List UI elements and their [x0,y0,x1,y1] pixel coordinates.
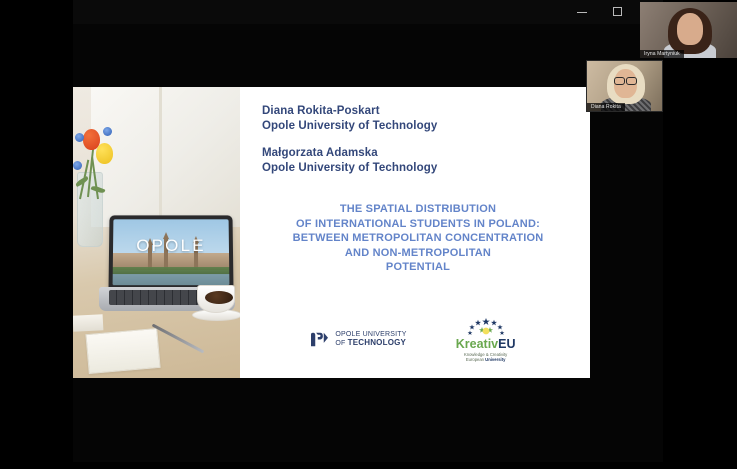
meeting-screen: OPOLE Diana Rokita-Poskart Op [0,0,737,469]
opole-mark-icon [309,331,330,348]
cornflower [103,127,112,136]
participant-tile-2[interactable]: Diana Rokita [586,60,663,112]
author-org: Opole University of Technology [262,119,574,134]
window-light [91,87,240,227]
author-name: Diana Rokita-Poskart [262,104,574,119]
participant-tile-1[interactable]: Iryna Martyniuk [640,2,737,58]
participant-name-2: Diana Rokita [587,103,625,111]
participant-name-1: Iryna Martyniuk [640,50,684,58]
author-org: Opole University of Technology [262,161,574,176]
tagline-line2: European University [451,357,521,362]
slide-text-panel: Diana Rokita-Poskart Opole University of… [240,87,590,378]
maximize-icon[interactable] [611,5,625,19]
laptop-screen: OPOLE [113,219,230,285]
tulip-yellow [96,143,113,164]
author-name: Małgorzata Adamska [262,146,574,161]
title-line: POTENTIAL [262,260,574,275]
presentation-slide: OPOLE Diana Rokita-Poskart Op [73,87,590,378]
title-line: OF INTERNATIONAL STUDENTS IN POLAND: [262,217,574,232]
pen [152,324,205,354]
coffee-cup [195,283,239,319]
window-frame [159,87,162,221]
title-line: THE SPATIAL DISTRIBUTION [262,202,574,217]
minimize-icon[interactable] [575,5,589,19]
opole-logo-line2: OF TECHNOLOGY [335,339,406,349]
slide-photo: OPOLE [73,87,240,378]
opole-university-logo: OPOLE UNIVERSITY OF TECHNOLOGY [309,331,406,349]
author-block-2: Małgorzata Adamska Opole University of T… [262,146,574,176]
author-block-1: Diana Rokita-Poskart Opole University of… [262,104,574,134]
presentation-title: THE SPATIAL DISTRIBUTION OF INTERNATIONA… [262,202,574,275]
cornflower [73,161,82,170]
cornflower [75,133,84,142]
booklet [73,314,103,332]
kreativeu-tagline: Knowledge & Creativity European Universi… [451,352,521,362]
window-titlebar [73,0,663,24]
notepad [85,328,160,374]
kreativeu-logo: KreativEU Knowledge & Creativity Europea… [451,318,521,362]
title-line: BETWEEN METROPOLITAN CONCENTRATION [262,231,574,246]
participant-face [677,13,703,45]
laptop-screen-caption: OPOLE [113,236,229,256]
eu-stars-icon [462,318,510,338]
coffee-surface [205,291,233,304]
title-line: AND NON-METROPOLITAN [262,246,574,261]
laptop-lid: OPOLE [108,215,233,289]
slide-logos: OPOLE UNIVERSITY OF TECHNOLOGY [240,318,590,362]
cup-body [197,285,235,313]
kreativeu-wordmark: KreativEU [451,338,521,351]
opole-logo-text: OPOLE UNIVERSITY OF TECHNOLOGY [335,331,406,349]
